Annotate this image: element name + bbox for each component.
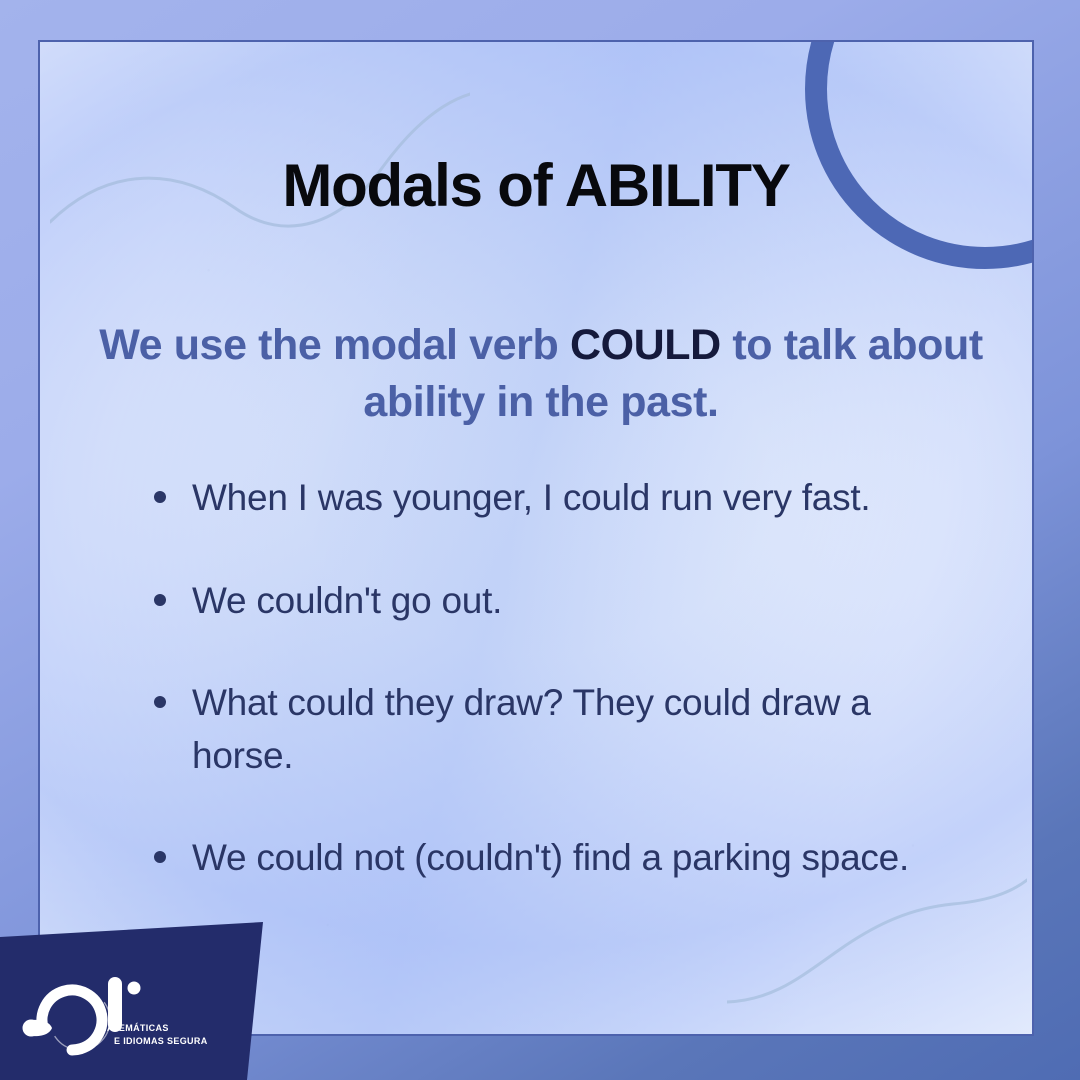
- page-title: Modals of ABILITY: [40, 154, 1032, 217]
- list-item-text: We couldn't go out.: [192, 580, 502, 621]
- list-item-text: What could they draw? They could draw a …: [192, 682, 871, 776]
- bullet-dot-icon: [154, 851, 166, 863]
- logo-wordmark-line2: E IDIOMAS SEGURA: [114, 1036, 208, 1046]
- list-item: When I was younger, I could run very fas…: [148, 472, 966, 525]
- logo-wordmark-line1: MATEMÁTICAS: [99, 1023, 169, 1033]
- subtitle-text: We use the modal verb COULD to talk abou…: [98, 317, 984, 431]
- subtitle-emphasis-could: COULD: [570, 321, 721, 369]
- list-item-text: We could not (couldn't) find a parking s…: [192, 837, 909, 878]
- list-item: We couldn't go out.: [148, 575, 966, 628]
- brand-logo-badge: MATEMÁTICAS E IDIOMAS SEGURA: [0, 915, 290, 1080]
- example-sentence-list: When I was younger, I could run very fas…: [148, 472, 966, 885]
- card-content: Modals of ABILITY We use the modal verb …: [40, 42, 1032, 1034]
- list-item-text: When I was younger, I could run very fas…: [192, 477, 870, 518]
- bullet-dot-icon: [154, 696, 166, 708]
- content-card: Modals of ABILITY We use the modal verb …: [38, 40, 1034, 1036]
- subtitle-part-before: We use the modal verb: [99, 321, 570, 369]
- bullet-dot-icon: [154, 491, 166, 503]
- logo-badge-shape: [0, 922, 263, 1080]
- list-item: We could not (couldn't) find a parking s…: [148, 832, 966, 885]
- bullet-dot-icon: [154, 594, 166, 606]
- poster-canvas: Modals of ABILITY We use the modal verb …: [0, 0, 1080, 1080]
- list-item: What could they draw? They could draw a …: [148, 677, 966, 782]
